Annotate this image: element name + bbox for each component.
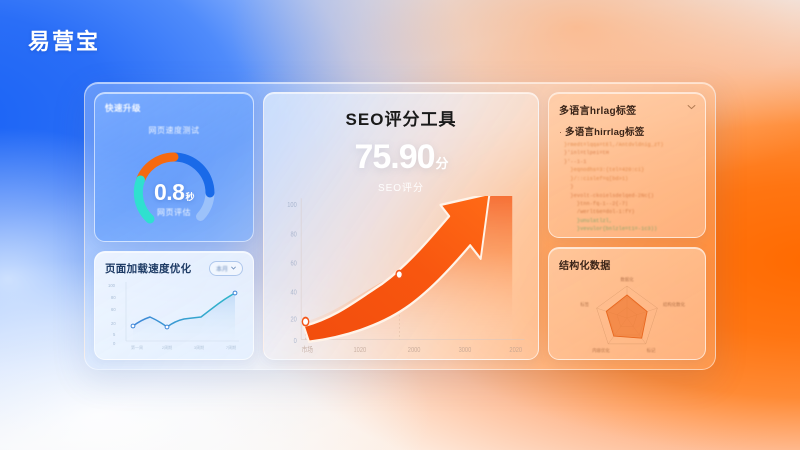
radar-axis-label: 结构化数化 <box>663 301 686 308</box>
page-load-line-chart: 100 80 60 20 5 0 <box>105 279 243 356</box>
svg-text:80: 80 <box>111 295 116 300</box>
gauge-card-header: 快速升级 <box>105 102 243 114</box>
svg-text:第一周: 第一周 <box>131 344 143 350</box>
structured-data-title: 结构化数据 <box>559 257 695 272</box>
structured-data-card: 结构化数据 <box>548 247 706 360</box>
page-load-speed-card: 页面加载速度优化 本月 <box>94 251 254 360</box>
brand-logo: 易营宝 <box>28 24 100 56</box>
code-line: }rmedt=lqqa=tEl,/Antdvldnig_zT) <box>564 141 696 149</box>
code-line: }'--1-1 <box>564 158 696 166</box>
seo-score-value: 75.90分 <box>274 140 528 174</box>
hreflang-subtitle-row: · 多语言hirrlag标签 <box>559 124 696 138</box>
hreflang-code-block: }rmedt=lqqa=tEl,/Antdvldnig_zT) }'inl=tl… <box>559 141 696 234</box>
radar-axis-label: 数据化 <box>620 276 634 283</box>
bullet-dot-icon: · <box>559 128 562 137</box>
svg-text:1020: 1020 <box>354 346 367 353</box>
line-chart-y-ticks: 100 80 60 20 5 0 <box>108 283 116 346</box>
code-line: }'inl=tlpei=tH <box>564 149 696 157</box>
dashboard-panel: 快速升级 网页速度测试 0.8秒 <box>84 82 716 370</box>
middle-column: SEO评分工具 75.90分 SEO评分 <box>263 92 539 360</box>
seo-trend-chart: 100 80 60 40 20 0 <box>274 196 528 353</box>
gauge-center-readout: 0.8秒 网页评估 <box>122 181 226 218</box>
svg-text:3周期: 3周期 <box>194 344 204 350</box>
code-line: /werltGe=dol-1:fY) <box>564 208 696 216</box>
code-line: }evolt-ckoielsdelqed-2Nc{) <box>564 192 696 200</box>
hreflang-card: 多语言hrlag标签 · 多语言hirrlag标签 }rmedt=lqqa=tE… <box>548 92 706 238</box>
gauge-orange-segment <box>141 157 175 180</box>
gauge-value-label: 网页评估 <box>122 207 226 218</box>
speed-gauge-card: 快速升级 网页速度测试 0.8秒 <box>94 92 254 242</box>
seo-score-card: SEO评分工具 75.90分 SEO评分 <box>263 92 539 360</box>
gauge-value-number: 0.8 <box>154 179 184 205</box>
line-chart-svg: 100 80 60 20 5 0 <box>105 279 243 351</box>
right-column: 多语言hrlag标签 · 多语言hirrlag标签 }rmedt=lqqa=tE… <box>548 92 706 360</box>
svg-text:2020: 2020 <box>509 346 522 353</box>
seo-chart-y-ticks: 100 80 60 40 20 0 <box>287 202 297 345</box>
code-line: }vevulor{bnlzle=t1=-1c3)) <box>564 225 696 233</box>
svg-text:100: 100 <box>108 283 116 288</box>
svg-text:100: 100 <box>287 202 297 210</box>
radar-axis-label: 内容优化 <box>592 347 610 354</box>
radar-data-polygon <box>606 295 647 338</box>
seo-trend-svg: 100 80 60 40 20 0 <box>274 196 528 353</box>
radar-axis-label: 标签 <box>580 301 589 308</box>
line-card-title: 页面加载速度优化 <box>105 261 191 276</box>
speed-gauge: 0.8秒 网页评估 <box>122 141 226 233</box>
svg-text:5: 5 <box>113 332 116 337</box>
seo-score-label: SEO评分 <box>274 179 528 194</box>
svg-text:20: 20 <box>290 316 297 324</box>
svg-text:0: 0 <box>113 341 116 346</box>
svg-text:0: 0 <box>294 337 297 345</box>
code-line: }unulatlzl, <box>564 217 696 225</box>
structured-data-radar-chart: 数据化 结构化数化 标记 内容优化 标签 <box>559 274 695 356</box>
seo-score-unit: 分 <box>436 156 448 171</box>
range-dropdown-label: 本月 <box>216 264 228 273</box>
radar-axis-label: 标记 <box>647 347 656 354</box>
hreflang-card-title: 多语言hrlag标签 <box>559 102 636 117</box>
gauge-value: 0.8秒 <box>122 181 226 204</box>
code-line: }eqnodhs=3:{tel=420:ci} <box>564 166 696 174</box>
seo-chart-x-ticks: 市场 1020 2000 3000 2020 <box>302 344 523 353</box>
code-line: }tnn-fq-1--2{-7| <box>564 200 696 208</box>
svg-text:2周期: 2周期 <box>162 344 172 350</box>
radar-body <box>597 286 658 344</box>
svg-text:60: 60 <box>290 260 297 268</box>
gauge-value-unit: 秒 <box>185 192 194 202</box>
svg-text:2000: 2000 <box>408 346 421 353</box>
svg-text:60: 60 <box>111 307 116 312</box>
chevron-down-icon[interactable] <box>687 103 696 112</box>
code-line: } <box>564 183 696 191</box>
gauge-card-subtitle: 网页速度测试 <box>105 125 243 136</box>
svg-text:80: 80 <box>290 231 297 239</box>
chevron-down-icon <box>231 266 236 272</box>
seo-card-title: SEO评分工具 <box>274 105 528 130</box>
hreflang-card-header[interactable]: 多语言hrlag标签 <box>559 102 696 117</box>
svg-text:7周期: 7周期 <box>226 344 236 350</box>
svg-text:市场: 市场 <box>302 344 314 353</box>
left-column: 快速升级 网页速度测试 0.8秒 <box>94 92 254 360</box>
seo-score-number: 75.90 <box>354 138 434 176</box>
code-line: }/::cislef=q[bd>1) <box>564 175 696 183</box>
svg-text:3000: 3000 <box>459 346 472 353</box>
svg-text:20: 20 <box>111 321 116 326</box>
hreflang-subtitle: 多语言hirrlag标签 <box>565 124 644 138</box>
radar-svg: 数据化 结构化数化 标记 内容优化 标签 <box>563 274 691 356</box>
svg-text:40: 40 <box>290 289 297 297</box>
line-chart-x-ticks: 第一周 2周期 3周期 7周期 <box>131 344 236 350</box>
line-card-range-dropdown[interactable]: 本月 <box>209 261 243 276</box>
line-card-header: 页面加载速度优化 本月 <box>105 261 243 276</box>
